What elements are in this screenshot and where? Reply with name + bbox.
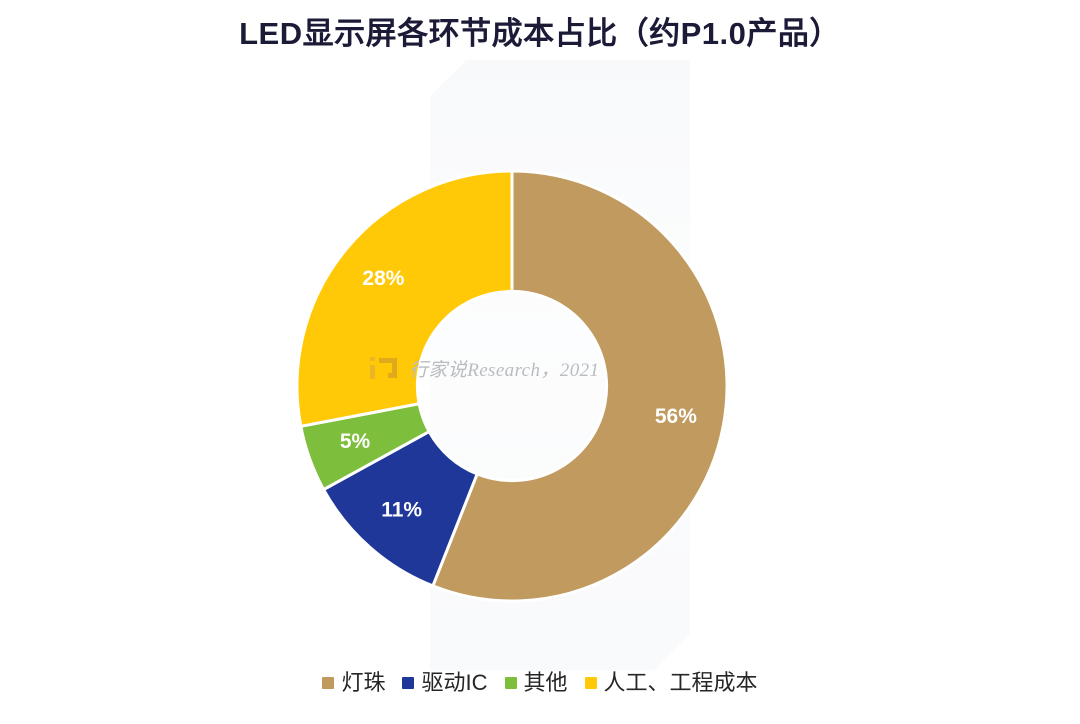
- slice-data-label: 5%: [340, 430, 371, 453]
- donut-slice[interactable]: [297, 171, 512, 426]
- slice-data-label: 28%: [362, 267, 404, 290]
- donut-svg: 56%11%5%28%: [297, 110, 727, 662]
- slice-data-label: 56%: [655, 405, 697, 428]
- legend-color-swatch: [322, 677, 334, 689]
- legend-label: 其他: [524, 672, 568, 694]
- page-title: LED显示屏各环节成本占比（约P1.0产品）: [0, 8, 1080, 53]
- donut-chart-figure: LED显示屏各环节成本占比（约P1.0产品） 56%11%5%28% 行家说Re…: [0, 0, 1080, 724]
- donut-slice-group: [297, 171, 727, 601]
- legend-color-swatch: [505, 677, 517, 689]
- legend-item[interactable]: 人工、工程成本: [585, 672, 758, 694]
- legend-label: 人工、工程成本: [604, 672, 758, 694]
- legend-item[interactable]: 灯珠: [322, 672, 385, 694]
- slice-data-label: 11%: [381, 499, 422, 522]
- legend-color-swatch: [402, 677, 414, 689]
- legend-item[interactable]: 驱动IC: [402, 672, 487, 694]
- legend-item[interactable]: 其他: [505, 672, 568, 694]
- legend-label: 驱动IC: [421, 672, 487, 694]
- donut-chart-plot: 56%11%5%28%: [297, 110, 727, 662]
- legend-color-swatch: [585, 677, 597, 689]
- chart-legend: 灯珠驱动IC其他人工、工程成本: [0, 672, 1080, 694]
- legend-label: 灯珠: [341, 672, 385, 694]
